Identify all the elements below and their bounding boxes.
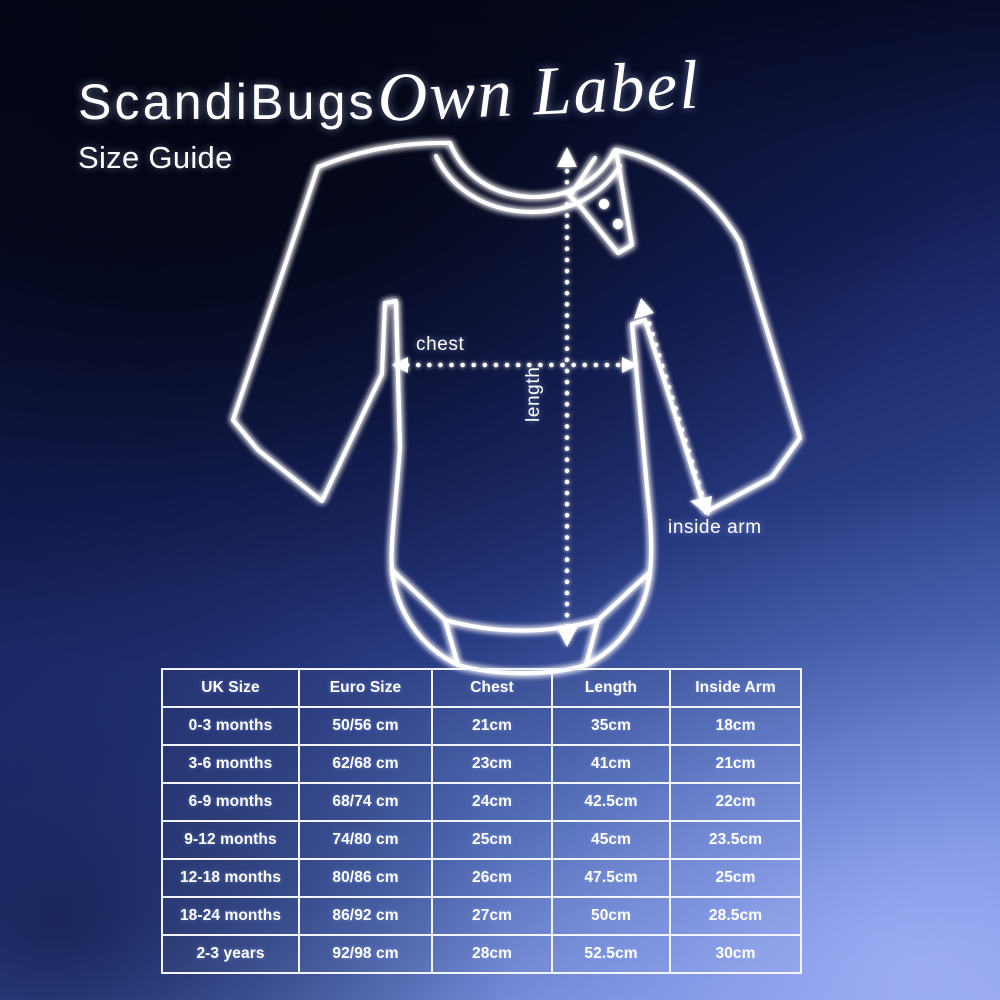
- table-cell: 74/80 cm: [299, 821, 432, 859]
- size-table: UK SizeEuro SizeChestLengthInside Arm 0-…: [161, 668, 802, 974]
- table-row: 6-9 months68/74 cm24cm42.5cm22cm: [162, 783, 801, 821]
- table-cell: 23cm: [432, 745, 552, 783]
- table-cell: 23.5cm: [670, 821, 801, 859]
- table-cell: 47.5cm: [552, 859, 670, 897]
- table-cell: 50/56 cm: [299, 707, 432, 745]
- table-cell: 3-6 months: [162, 745, 299, 783]
- table-cell: 52.5cm: [552, 935, 670, 973]
- table-cell: 18cm: [670, 707, 801, 745]
- page-header: ScandiBugs Own Label Size Guide: [78, 62, 938, 176]
- table-cell: 28.5cm: [670, 897, 801, 935]
- inside-arm-arrow-top: [634, 298, 654, 319]
- inside-arm-measure-label: inside arm: [668, 517, 762, 539]
- body-right-lower: [648, 498, 651, 572]
- table-cell: 86/92 cm: [299, 897, 432, 935]
- table-cell: 27cm: [432, 897, 552, 935]
- table-cell: 35cm: [552, 707, 670, 745]
- table-cell: 24cm: [432, 783, 552, 821]
- table-cell: 68/74 cm: [299, 783, 432, 821]
- column-header-2: Chest: [432, 669, 552, 707]
- right-armpit-seam: [632, 320, 706, 512]
- table-cell: 18-24 months: [162, 897, 299, 935]
- table-cell: 21cm: [432, 707, 552, 745]
- table-cell: 9-12 months: [162, 821, 299, 859]
- table-cell: 21cm: [670, 745, 801, 783]
- inside-arm-arrow-bottom: [690, 496, 712, 516]
- page-title: Size Guide: [78, 140, 938, 176]
- brand-script-label: Own Label: [376, 51, 701, 133]
- table-cell: 25cm: [432, 821, 552, 859]
- table-cell: 45cm: [552, 821, 670, 859]
- brand-title-line: ScandiBugs Own Label: [78, 62, 938, 131]
- size-table-container: UK SizeEuro SizeChestLengthInside Arm 0-…: [161, 668, 800, 974]
- brand-name: ScandiBugs: [78, 77, 377, 127]
- table-row: 18-24 months86/92 cm27cm50cm28.5cm: [162, 897, 801, 935]
- table-row: 9-12 months74/80 cm25cm45cm23.5cm: [162, 821, 801, 859]
- body-left-upper: [396, 301, 400, 448]
- table-row: 2-3 years92/98 cm28cm52.5cm30cm: [162, 935, 801, 973]
- left-sleeve-outline: [233, 167, 382, 501]
- table-cell: 25cm: [670, 859, 801, 897]
- length-measure-label: length: [523, 367, 545, 422]
- table-cell: 41cm: [552, 745, 670, 783]
- chest-arrow-left: [392, 357, 408, 373]
- table-cell: 26cm: [432, 859, 552, 897]
- column-header-4: Inside Arm: [670, 669, 801, 707]
- table-row: 0-3 months50/56 cm21cm35cm18cm: [162, 707, 801, 745]
- chest-measure-label: chest: [416, 334, 464, 356]
- table-cell: 50cm: [552, 897, 670, 935]
- gusset-left-curve: [392, 570, 458, 665]
- table-row: 3-6 months62/68 cm23cm41cm21cm: [162, 745, 801, 783]
- column-header-3: Length: [552, 669, 670, 707]
- size-table-body: 0-3 months50/56 cm21cm35cm18cm3-6 months…: [162, 707, 801, 973]
- body-left-lower: [392, 448, 400, 570]
- gusset-left-panel: [392, 570, 458, 665]
- table-cell: 62/68 cm: [299, 745, 432, 783]
- length-arrow-bottom: [556, 626, 578, 647]
- inside-arm-measure-line: [646, 313, 704, 501]
- table-cell: 6-9 months: [162, 783, 299, 821]
- snap-button-1: [599, 199, 609, 209]
- bodysuit-diagram: [200, 120, 840, 680]
- table-cell: 0-3 months: [162, 707, 299, 745]
- table-header-row: UK SizeEuro SizeChestLengthInside Arm: [162, 669, 801, 707]
- table-cell: 42.5cm: [552, 783, 670, 821]
- table-cell: 30cm: [670, 935, 801, 973]
- table-row: 12-18 months80/86 cm26cm47.5cm25cm: [162, 859, 801, 897]
- size-table-header: UK SizeEuro SizeChestLengthInside Arm: [162, 669, 801, 707]
- table-cell: 22cm: [670, 783, 801, 821]
- table-cell: 92/98 cm: [299, 935, 432, 973]
- size-guide-page: ScandiBugs Own Label Size Guide: [0, 0, 1000, 1000]
- snap-button-2: [613, 219, 623, 229]
- table-cell: 12-18 months: [162, 859, 299, 897]
- table-cell: 80/86 cm: [299, 859, 432, 897]
- table-cell: 28cm: [432, 935, 552, 973]
- table-cell: 2-3 years: [162, 935, 299, 973]
- column-header-1: Euro Size: [299, 669, 432, 707]
- column-header-0: UK Size: [162, 669, 299, 707]
